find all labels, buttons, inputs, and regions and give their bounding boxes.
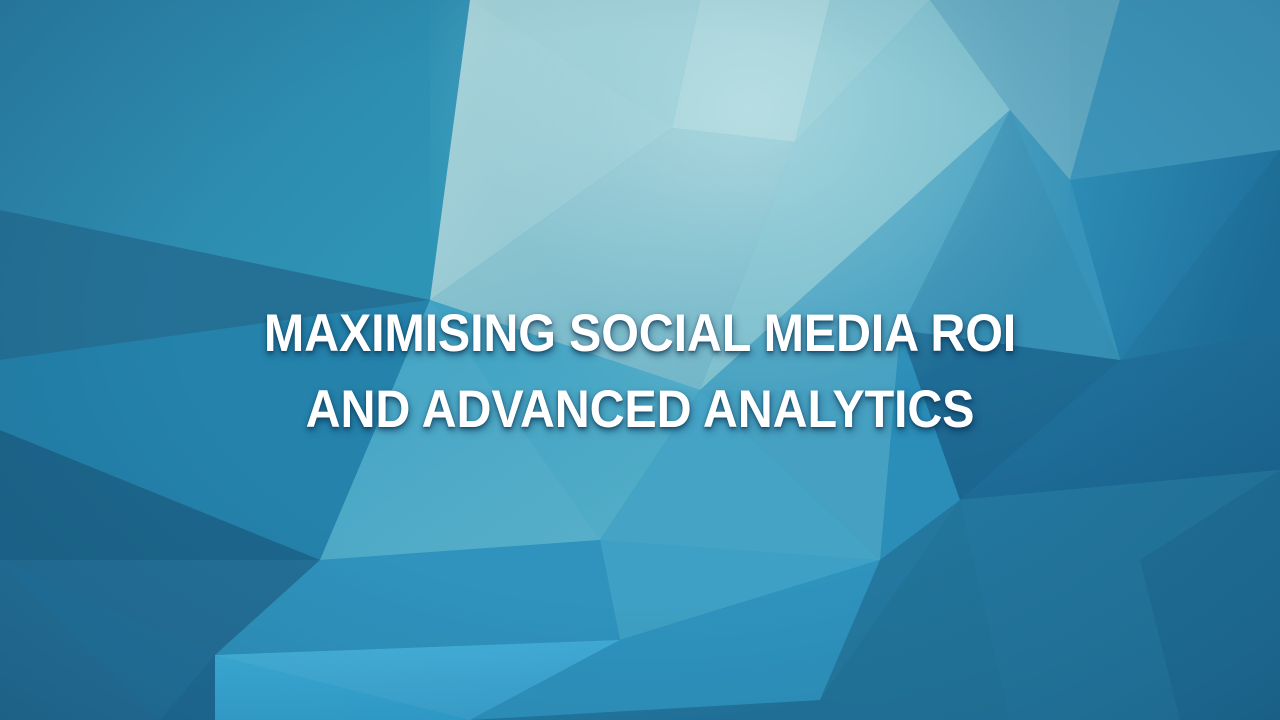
title-card-slide: MAXIMISING SOCIAL MEDIA ROI AND ADVANCED… <box>0 0 1280 720</box>
low-poly-background <box>0 0 1280 720</box>
